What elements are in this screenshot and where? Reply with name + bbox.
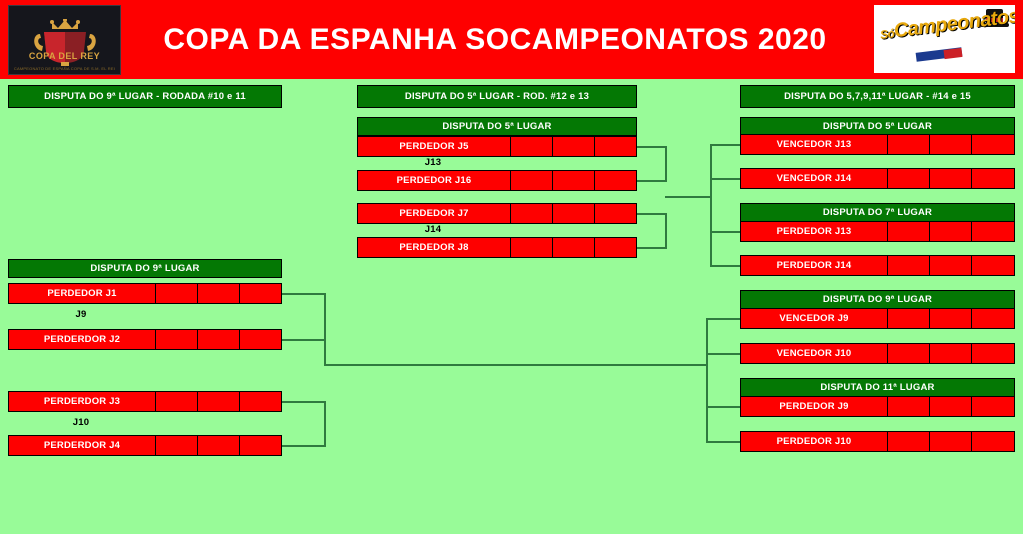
team-label: VENCEDOR J10	[741, 344, 887, 363]
score-cell[interactable]	[929, 432, 971, 451]
score-cell[interactable]	[510, 137, 552, 156]
team-label: PERDEDOR J10	[741, 432, 887, 451]
connector-line	[710, 231, 712, 265]
group-title-left-9th: DISPUTA DO 9ª LUGAR	[8, 259, 282, 278]
so-campeonatos-logo: SóCampeonatos	[874, 5, 1015, 73]
table-row[interactable]: VENCEDOR J10	[740, 343, 1015, 364]
score-cell[interactable]	[887, 397, 929, 416]
table-row[interactable]: PERDERDOR J2	[8, 329, 282, 350]
score-cell[interactable]	[594, 238, 636, 257]
table-row[interactable]: PERDEDOR J9	[740, 396, 1015, 417]
score-cell[interactable]	[155, 392, 197, 411]
copa-del-rey-logo: COPA DEL REY CAMPEONATO DE ESPAÑA COPA D…	[8, 5, 121, 75]
team-label: VENCEDOR J9	[741, 309, 887, 328]
connector-line	[282, 445, 326, 447]
flag-bar-red	[944, 48, 963, 59]
score-cell[interactable]	[887, 169, 929, 188]
score-cell[interactable]	[155, 436, 197, 455]
match-id-label: J10	[8, 413, 154, 432]
score-cell[interactable]	[552, 171, 594, 190]
score-cell[interactable]	[510, 238, 552, 257]
score-cell[interactable]	[929, 169, 971, 188]
score-cell[interactable]	[155, 330, 197, 349]
team-label: PERDEDOR J16	[358, 171, 510, 190]
score-cell[interactable]	[887, 309, 929, 328]
tournament-bracket-page: COPA DEL REY CAMPEONATO DE ESPAÑA COPA D…	[0, 0, 1023, 534]
score-cell[interactable]	[929, 397, 971, 416]
connector-line	[706, 441, 740, 443]
connector-line	[706, 353, 708, 408]
group-title-center-5th: DISPUTA DO 5ª LUGAR	[357, 117, 637, 136]
score-cell[interactable]	[594, 137, 636, 156]
connector-line	[282, 401, 326, 403]
score-cell[interactable]	[887, 256, 929, 275]
score-cell[interactable]	[155, 284, 197, 303]
score-cell[interactable]	[594, 204, 636, 223]
score-cell[interactable]	[971, 309, 1014, 328]
table-row[interactable]: PERDEDOR J10	[740, 431, 1015, 452]
connector-line	[665, 196, 712, 198]
score-cell[interactable]	[971, 135, 1014, 154]
score-cell[interactable]	[887, 344, 929, 363]
table-row[interactable]: PERDERDOR J3	[8, 391, 282, 412]
connector-line	[706, 406, 708, 443]
connector-line	[706, 318, 708, 355]
table-row[interactable]: PERDERDOR J4	[8, 435, 282, 456]
group-title-right-9th: DISPUTA DO 9ª LUGAR	[740, 290, 1015, 309]
connector-line	[637, 146, 667, 148]
connector-line	[710, 144, 740, 146]
page-title: COPA DA ESPANHA SOCAMPEONATOS 2020	[140, 0, 850, 79]
score-cell[interactable]	[239, 330, 281, 349]
crest-sublabel: CAMPEONATO DE ESPAÑA COPA DE S.M. EL REI	[9, 66, 120, 71]
score-cell[interactable]	[887, 432, 929, 451]
connector-line	[324, 401, 326, 447]
team-label: VENCEDOR J13	[741, 135, 887, 154]
crest-label: COPA DEL REY	[9, 51, 120, 61]
section-banner-left: DISPUTA DO 9ª LUGAR - RODADA #10 e 11	[8, 85, 282, 108]
group-title-right-7th: DISPUTA DO 7ª LUGAR	[740, 203, 1015, 222]
score-cell[interactable]	[887, 135, 929, 154]
team-label: PERDEDOR J1	[9, 284, 155, 303]
connector-line	[282, 293, 326, 295]
score-cell[interactable]	[197, 392, 239, 411]
group-title-right-11th: DISPUTA DO 11ª LUGAR	[740, 378, 1015, 397]
score-cell[interactable]	[197, 330, 239, 349]
score-cell[interactable]	[929, 135, 971, 154]
score-cell[interactable]	[971, 432, 1014, 451]
connector-line	[710, 178, 740, 180]
score-cell[interactable]	[971, 344, 1014, 363]
score-cell[interactable]	[971, 222, 1014, 241]
score-cell[interactable]	[197, 436, 239, 455]
connector-line	[324, 339, 326, 366]
team-label: PERDEDOR J13	[741, 222, 887, 241]
connector-line	[324, 364, 706, 366]
score-cell[interactable]	[594, 171, 636, 190]
score-cell[interactable]	[929, 344, 971, 363]
score-cell[interactable]	[887, 222, 929, 241]
score-cell[interactable]	[929, 256, 971, 275]
connector-line	[706, 318, 740, 320]
team-label: PERDEDOR J8	[358, 238, 510, 257]
score-cell[interactable]	[552, 204, 594, 223]
connector-line	[710, 231, 740, 233]
score-cell[interactable]	[971, 397, 1014, 416]
connector-line	[665, 146, 667, 182]
team-label: PERDERDOR J3	[9, 392, 155, 411]
connector-line	[637, 247, 667, 249]
score-cell[interactable]	[239, 436, 281, 455]
table-row[interactable]: VENCEDOR J13	[740, 134, 1015, 155]
score-cell[interactable]	[929, 309, 971, 328]
table-row[interactable]: VENCEDOR J14	[740, 168, 1015, 189]
match-id-label: J9	[8, 305, 154, 324]
score-cell[interactable]	[510, 204, 552, 223]
team-label: PERDEDOR J9	[741, 397, 887, 416]
connector-line	[706, 353, 740, 355]
team-label: VENCEDOR J14	[741, 169, 887, 188]
team-label: PERDERDOR J4	[9, 436, 155, 455]
score-cell[interactable]	[971, 256, 1014, 275]
connector-line	[282, 339, 326, 341]
section-banner-center: DISPUTA DO 5ª LUGAR - ROD. #12 e 13	[357, 85, 637, 108]
score-cell[interactable]	[929, 222, 971, 241]
score-cell[interactable]	[552, 238, 594, 257]
table-row[interactable]: PERDEDOR J1	[8, 283, 282, 304]
table-row[interactable]: PERDEDOR J13	[740, 221, 1015, 242]
brand-label: Campeonatos	[893, 5, 1015, 42]
connector-line	[710, 180, 712, 231]
connector-line	[637, 213, 667, 215]
score-cell[interactable]	[552, 137, 594, 156]
score-cell[interactable]	[510, 171, 552, 190]
connector-line	[706, 406, 740, 408]
score-cell[interactable]	[971, 169, 1014, 188]
section-banner-right: DISPUTA DO 5,7,9,11ª LUGAR - #14 e 15	[740, 85, 1015, 108]
brand-text: SóCampeonatos	[879, 6, 1013, 45]
score-cell[interactable]	[239, 284, 281, 303]
connector-line	[324, 293, 326, 341]
team-label: PERDEDOR J14	[741, 256, 887, 275]
connector-line	[665, 213, 667, 249]
team-label: PERDERDOR J2	[9, 330, 155, 349]
page-header: COPA DEL REY CAMPEONATO DE ESPAÑA COPA D…	[0, 0, 1023, 79]
table-row[interactable]: VENCEDOR J9	[740, 308, 1015, 329]
table-row[interactable]: PERDEDOR J8	[357, 237, 637, 258]
table-row[interactable]: PERDEDOR J16	[357, 170, 637, 191]
connector-line	[710, 265, 740, 267]
connector-line	[637, 180, 667, 182]
score-cell[interactable]	[197, 284, 239, 303]
connector-line	[710, 144, 712, 180]
table-row[interactable]: PERDEDOR J14	[740, 255, 1015, 276]
score-cell[interactable]	[239, 392, 281, 411]
